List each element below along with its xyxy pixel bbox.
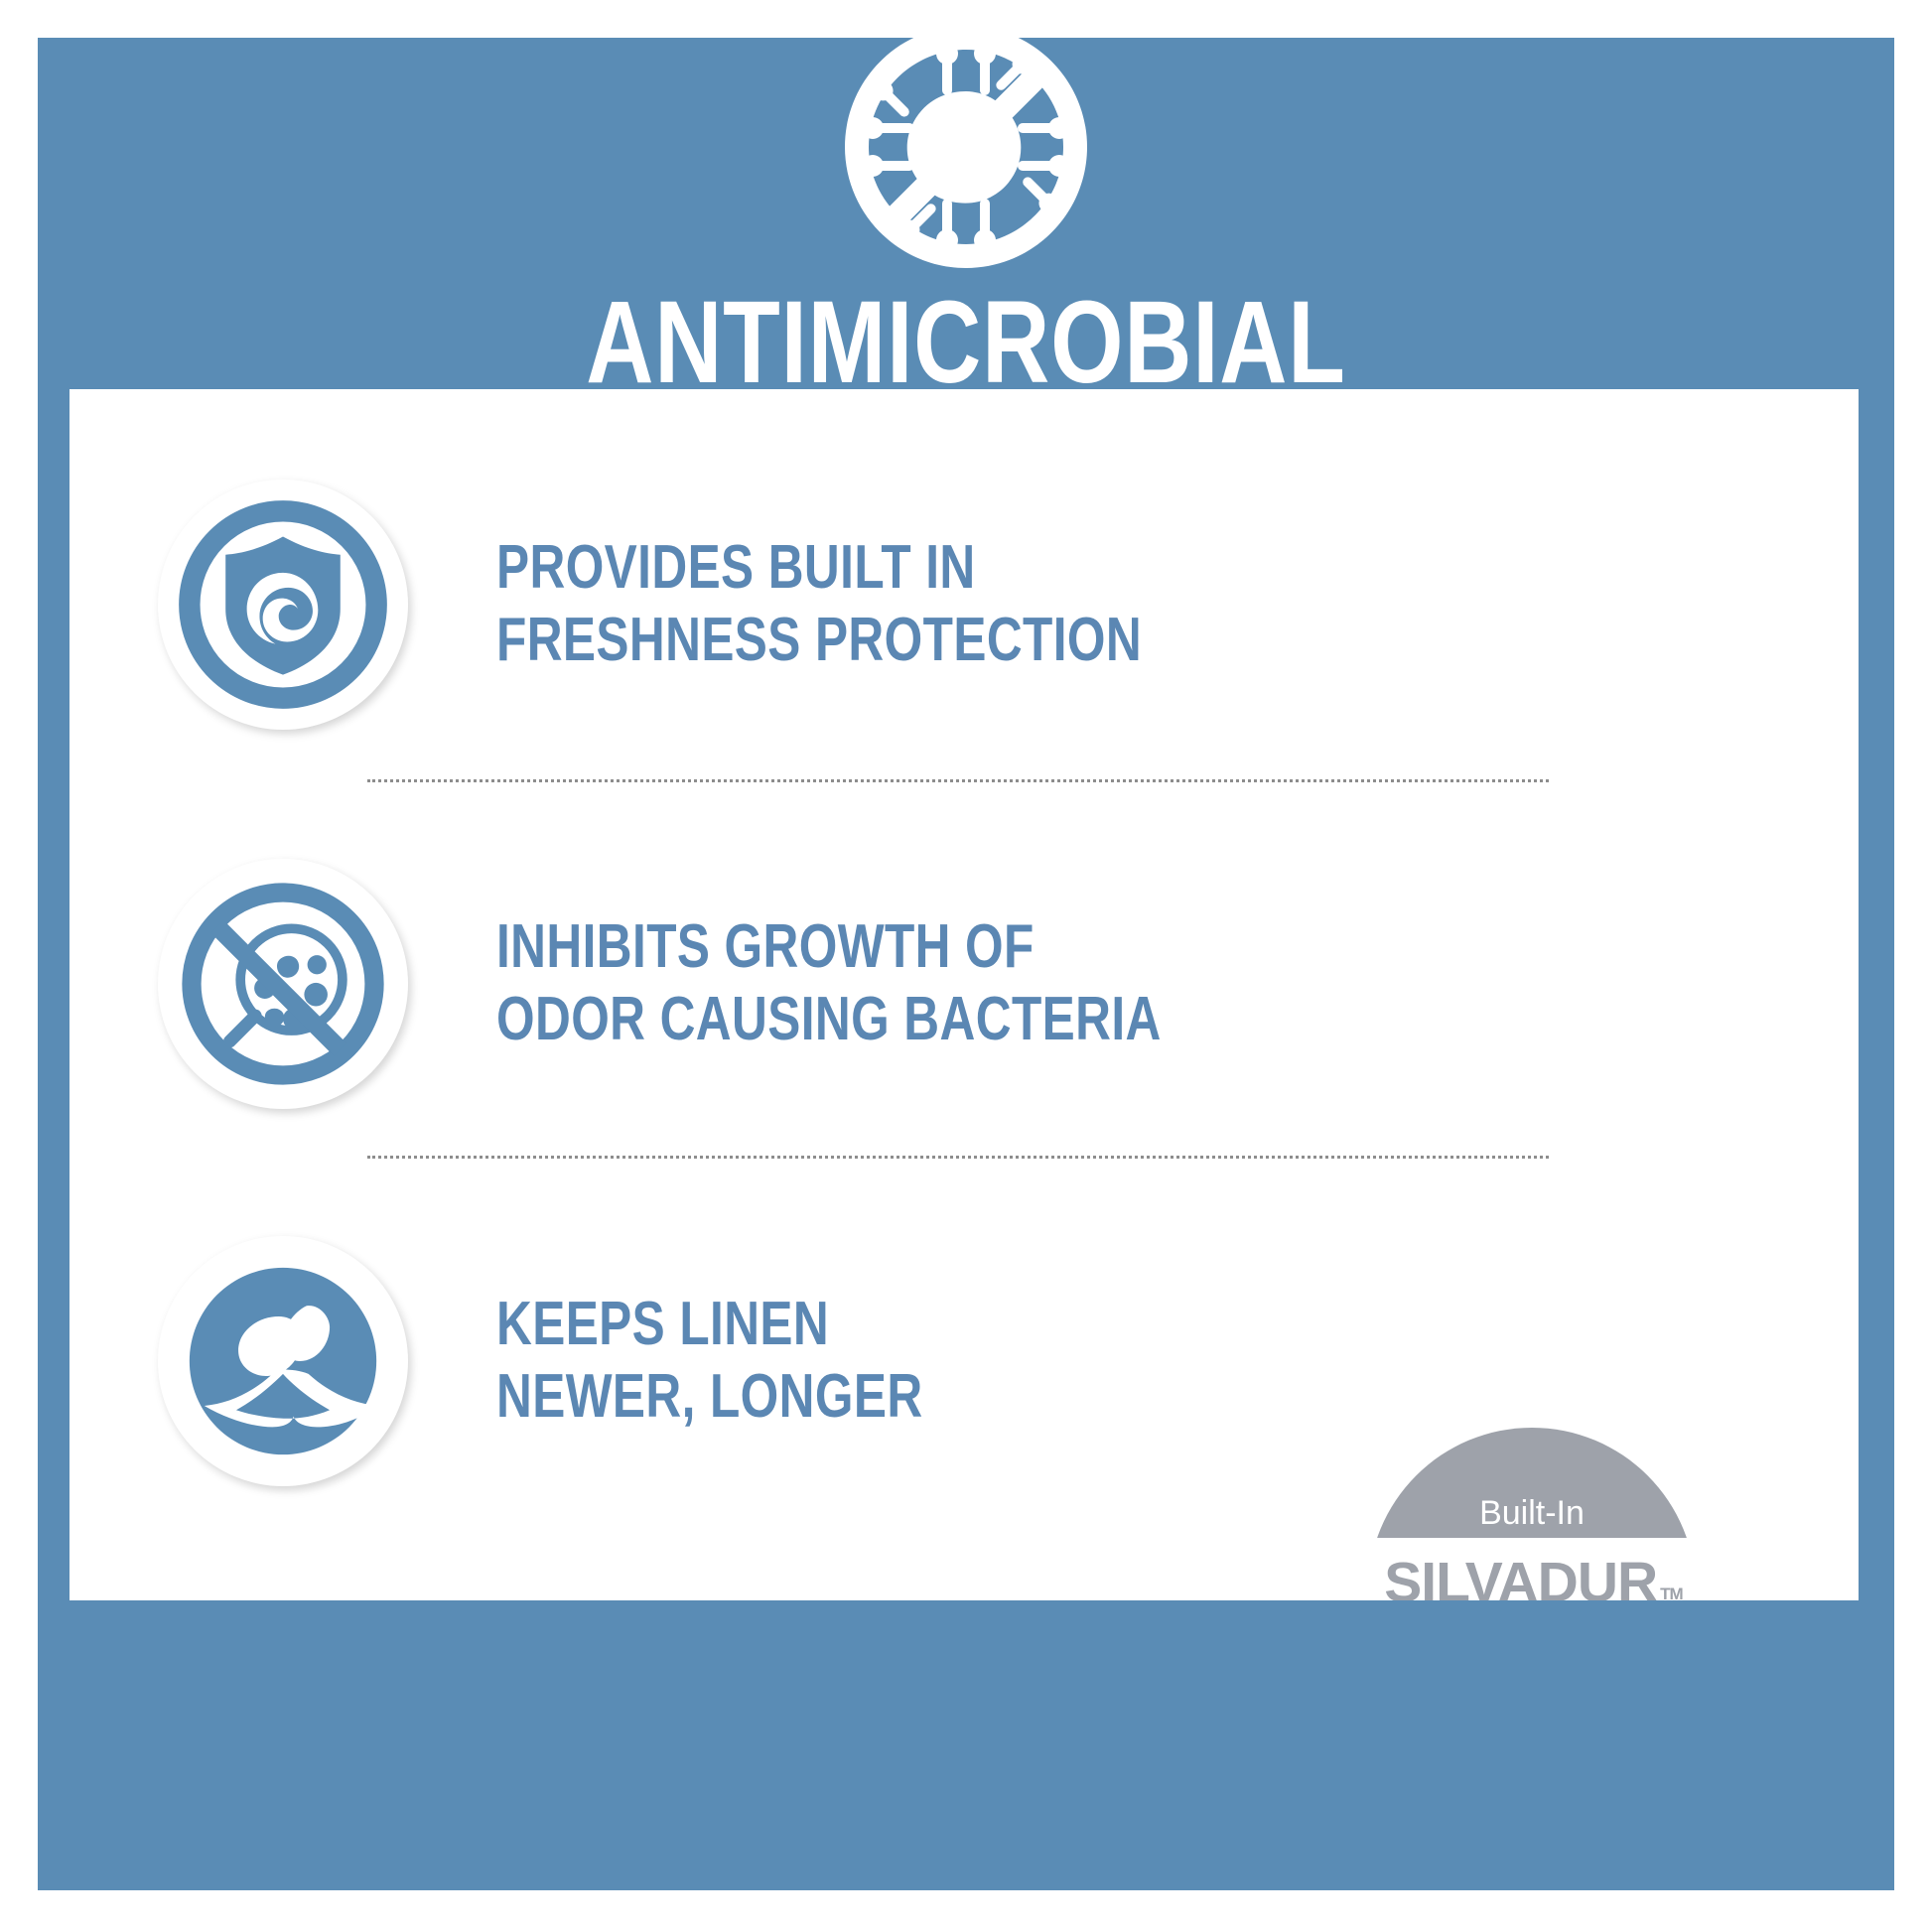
feature-row: INHIBITS GROWTH OF ODOR CAUSING BACTERIA xyxy=(69,806,1859,1162)
feature-icon-cell xyxy=(69,1236,496,1486)
content-card: PROVIDES BUILT IN FRESHNESS PROTECTION xyxy=(69,389,1859,1600)
feature-icon-cell xyxy=(69,480,496,730)
feature-line-1: KEEPS LINEN xyxy=(496,1289,1555,1361)
feature-list: PROVIDES BUILT IN FRESHNESS PROTECTION xyxy=(69,389,1859,1600)
row-divider xyxy=(367,779,1549,782)
seal-brand-wordmark: SILVADURTM xyxy=(1384,1555,1679,1600)
feature-line-1: INHIBITS GROWTH OF xyxy=(496,911,1555,984)
seal-built-in-label: Built-In xyxy=(1479,1496,1585,1538)
feature-line-2: ODOR CAUSING BACTERIA xyxy=(496,984,1555,1056)
leaf-sprout-icon xyxy=(158,1236,408,1486)
feature-text-cell: KEEPS LINEN NEWER, LONGER xyxy=(496,1289,1859,1433)
shield-freshness-icon xyxy=(158,480,408,730)
feature-text-cell: INHIBITS GROWTH OF ODOR CAUSING BACTERIA xyxy=(496,911,1859,1055)
no-bacteria-magnifier-icon xyxy=(158,859,408,1109)
seal-brand-text: SILVADUR xyxy=(1384,1551,1657,1600)
feature-icon-cell xyxy=(69,859,496,1109)
page-title: ANTIMICROBIAL xyxy=(223,284,1709,401)
poster-panel: ANTIMICROBIAL PROVIDES BUILT IN xyxy=(38,38,1894,1890)
feature-line-2: NEWER, LONGER xyxy=(496,1361,1555,1434)
silvadur-seal: Built-In SILVADURTM Antimicrobial Techno… xyxy=(1368,1428,1696,1600)
feature-row: PROVIDES BUILT IN FRESHNESS PROTECTION xyxy=(69,427,1859,782)
no-virus-icon xyxy=(839,20,1093,274)
feature-text-cell: PROVIDES BUILT IN FRESHNESS PROTECTION xyxy=(496,532,1859,676)
row-divider xyxy=(367,1156,1549,1159)
trademark-symbol: TM xyxy=(1660,1585,1683,1600)
feature-line-2: FRESHNESS PROTECTION xyxy=(496,605,1555,677)
feature-line-1: PROVIDES BUILT IN xyxy=(496,532,1555,605)
seal-top-section: Built-In xyxy=(1368,1428,1696,1538)
seal-middle-section: SILVADURTM Antimicrobial Technology xyxy=(1368,1538,1696,1600)
